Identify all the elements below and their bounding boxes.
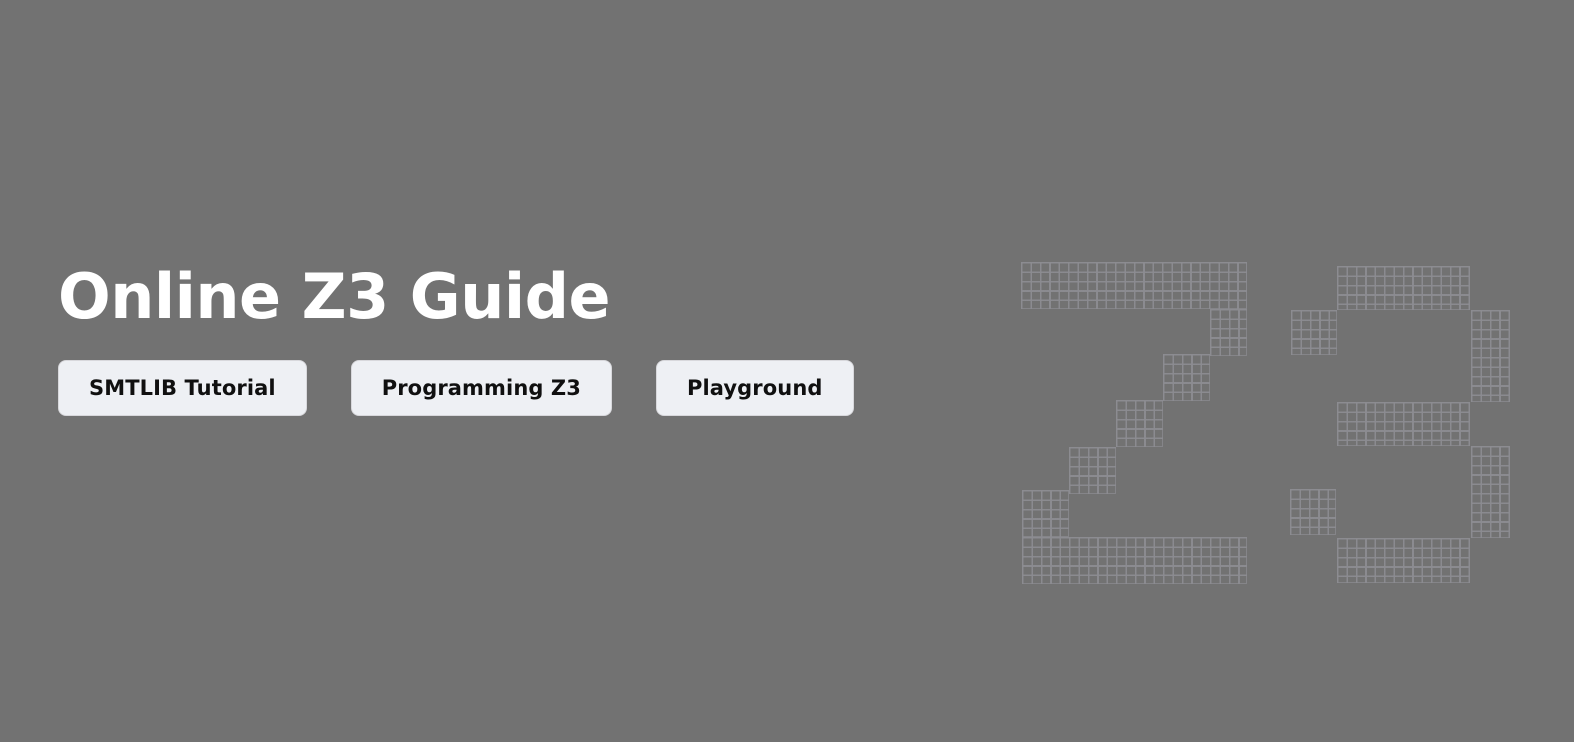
programming-z3-button[interactable]: Programming Z3 — [351, 360, 612, 416]
logo-three-lower-left-stub — [1290, 489, 1336, 535]
logo-three-middle-bar — [1337, 402, 1470, 446]
logo-z-step-3 — [1069, 447, 1116, 494]
logo-three-upper-right-column — [1471, 310, 1510, 402]
logo-z-step-2 — [1116, 400, 1163, 447]
logo-z-step-4 — [1022, 490, 1069, 537]
logo-z-step-1 — [1163, 354, 1210, 401]
hero-button-group: SMTLIB Tutorial Programming Z3 Playgroun… — [58, 360, 958, 416]
logo-three-bottom-bar — [1337, 538, 1470, 583]
logo-z-top-right-stub — [1210, 309, 1247, 356]
logo-z-top-bar — [1021, 262, 1247, 309]
hero-section: Online Z3 Guide SMTLIB Tutorial Programm… — [58, 258, 958, 416]
page-title: Online Z3 Guide — [58, 258, 958, 336]
playground-button[interactable]: Playground — [656, 360, 854, 416]
logo-three-upper-left-stub — [1291, 310, 1337, 355]
logo-three-top-bar — [1337, 266, 1470, 310]
logo-three-right-column — [1471, 446, 1510, 538]
smtlib-tutorial-button[interactable]: SMTLIB Tutorial — [58, 360, 307, 416]
logo-z-bottom-bar — [1022, 537, 1247, 584]
z3-pixel-logo — [1018, 258, 1528, 593]
landing-page: Online Z3 Guide SMTLIB Tutorial Programm… — [0, 0, 1574, 742]
